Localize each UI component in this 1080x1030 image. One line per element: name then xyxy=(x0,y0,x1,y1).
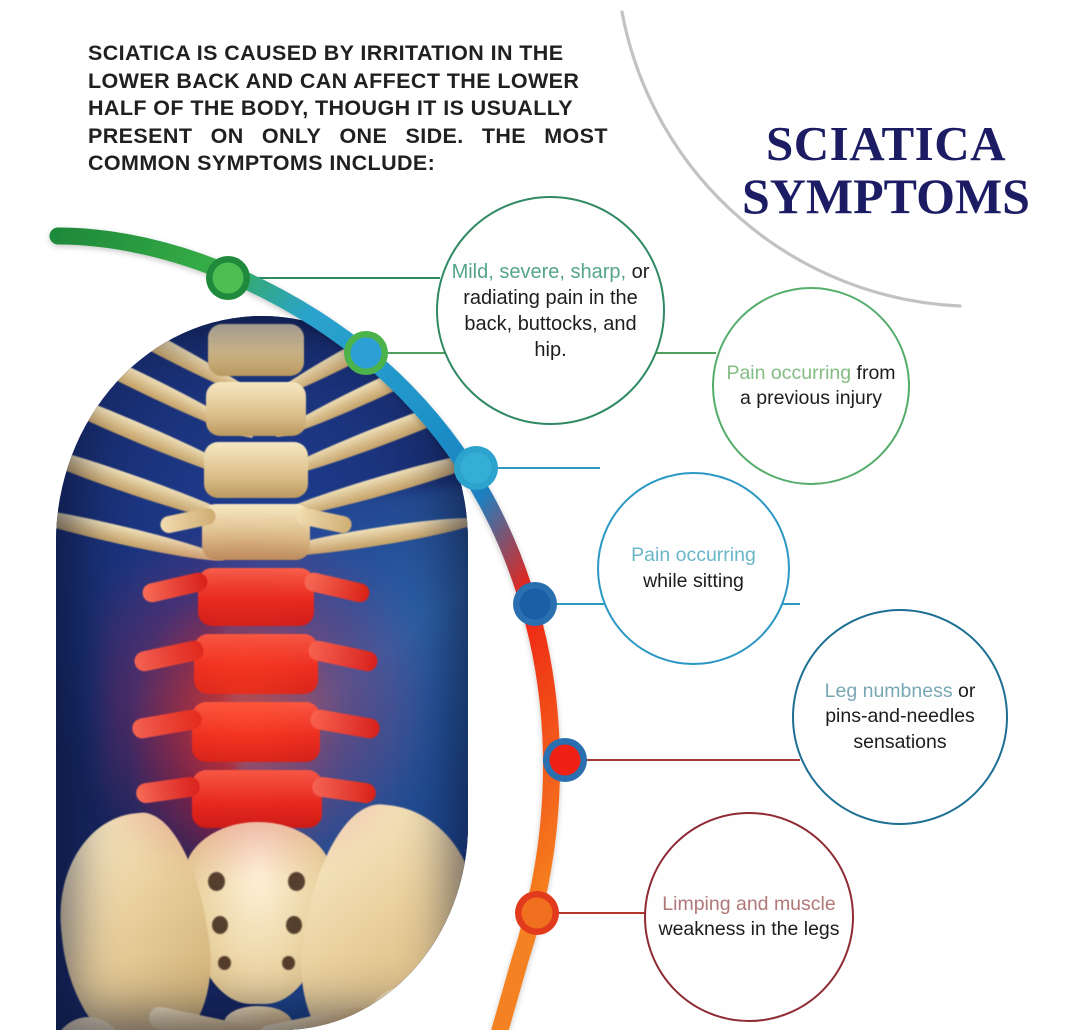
arc-dot-1[interactable] xyxy=(206,256,250,300)
title-line-1: SCIATICA xyxy=(700,118,1072,170)
symptom-text: Mild, severe, sharp, or radiating pain i… xyxy=(438,259,663,363)
symptom-bubble-pain-from-previous-injury[interactable]: Pain occurring from a previous injury xyxy=(712,287,910,485)
symptom-highlight: Leg numbness xyxy=(825,680,953,702)
intro-word: THE xyxy=(482,123,526,151)
intro-word: SIDE. xyxy=(405,123,463,151)
arc-dot-2[interactable] xyxy=(344,331,388,375)
intro-line: SCIATICA IS CAUSED BY IRRITATION IN THE xyxy=(88,40,608,68)
symptom-rest: weakness in the legs xyxy=(658,918,839,940)
symptom-bubble-pain-while-sitting[interactable]: Pain occurring while sitting xyxy=(597,472,790,665)
infographic-canvas: SCIATICA IS CAUSED BY IRRITATION IN THE … xyxy=(0,0,1080,1030)
intro-line: COMMON SYMPTOMS INCLUDE: xyxy=(88,150,608,178)
arc-dot-6[interactable] xyxy=(515,891,559,935)
symptom-bubble-limping-muscle-weakness[interactable]: Limping and muscle weakness in the legs xyxy=(644,812,854,1022)
symptom-highlight: Mild, severe, sharp, xyxy=(452,261,627,283)
arc-dot-3[interactable] xyxy=(454,446,498,490)
symptom-highlight: Limping and muscle xyxy=(662,893,835,915)
arc-dot-4[interactable] xyxy=(513,582,557,626)
intro-word: MOST xyxy=(544,123,608,151)
symptom-text: Pain occurring while sitting xyxy=(599,543,788,594)
intro-word: PRESENT xyxy=(88,123,192,151)
intro-paragraph: SCIATICA IS CAUSED BY IRRITATION IN THE … xyxy=(88,40,608,178)
intro-word: ONLY xyxy=(262,123,321,151)
symptom-rest: while sitting xyxy=(643,570,744,592)
symptom-text: Limping and muscle weakness in the legs xyxy=(646,892,852,943)
symptom-highlight: Pain occurring xyxy=(631,544,756,566)
arc-dot-5[interactable] xyxy=(543,738,587,782)
intro-line: HALF OF THE BODY, THOUGH IT IS USUALLY xyxy=(88,95,608,123)
symptom-bubble-leg-numbness-pins-needles[interactable]: Leg numbness or pins-and-needles sensati… xyxy=(792,609,1008,825)
intro-line: PRESENTONONLYONESIDE.THEMOST xyxy=(88,123,608,151)
symptom-bubble-mild-severe-sharp-pain[interactable]: Mild, severe, sharp, or radiating pain i… xyxy=(436,196,665,425)
page-title: SCIATICA SYMPTOMS xyxy=(700,118,1072,222)
symptom-text: Pain occurring from a previous injury xyxy=(714,361,908,412)
intro-line: LOWER BACK AND CAN AFFECT THE LOWER xyxy=(88,68,608,96)
intro-word: ONE xyxy=(339,123,387,151)
intro-word: ON xyxy=(211,123,244,151)
title-line-2: SYMPTOMS xyxy=(700,170,1072,222)
symptom-text: Leg numbness or pins-and-needles sensati… xyxy=(794,679,1006,755)
symptom-highlight: Pain occurring xyxy=(726,362,851,384)
